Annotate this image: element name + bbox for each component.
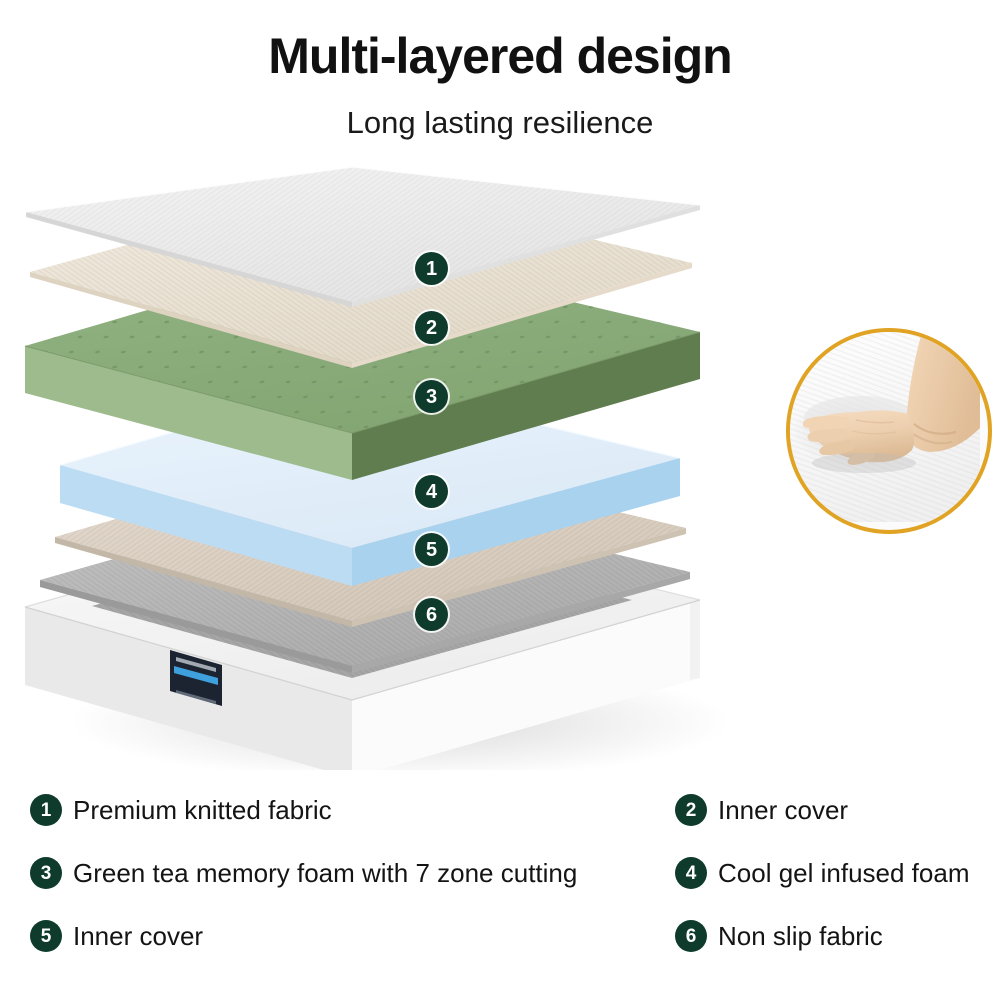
layer-legend: 1 Premium knitted fabric 3 Green tea mem… xyxy=(0,780,1000,970)
legend-item-4[interactable]: 4 Cool gel infused foam xyxy=(675,857,969,889)
legend-item-6[interactable]: 6 Non slip fabric xyxy=(675,920,883,952)
legend-label-5: Inner cover xyxy=(73,923,203,949)
legend-badge-6: 6 xyxy=(675,920,707,952)
legend-badge-3: 3 xyxy=(30,857,62,889)
legend-label-4: Cool gel infused foam xyxy=(718,860,969,886)
legend-badge-5: 5 xyxy=(30,920,62,952)
legend-label-1: Premium knitted fabric xyxy=(73,797,332,823)
exploded-layer-diagram: 1 2 3 4 5 6 xyxy=(0,150,790,770)
foam-press-inset-photo xyxy=(786,328,992,534)
diagram-callout-3[interactable]: 3 xyxy=(415,380,448,413)
infographic-canvas: Multi-layered design Long lasting resili… xyxy=(0,0,1000,1000)
diagram-callout-2[interactable]: 2 xyxy=(415,311,448,344)
legend-label-6: Non slip fabric xyxy=(718,923,883,949)
diagram-callout-6[interactable]: 6 xyxy=(415,598,448,631)
diagram-callout-1[interactable]: 1 xyxy=(415,252,448,285)
diagram-callout-4[interactable]: 4 xyxy=(415,475,448,508)
legend-item-3[interactable]: 3 Green tea memory foam with 7 zone cutt… xyxy=(30,857,577,889)
page-title: Multi-layered design xyxy=(0,30,1000,83)
diagram-callout-5[interactable]: 5 xyxy=(415,533,448,566)
legend-badge-2: 2 xyxy=(675,794,707,826)
legend-item-5[interactable]: 5 Inner cover xyxy=(30,920,203,952)
legend-label-2: Inner cover xyxy=(718,797,848,823)
legend-badge-1: 1 xyxy=(30,794,62,826)
page-subtitle: Long lasting resilience xyxy=(0,106,1000,140)
legend-item-1[interactable]: 1 Premium knitted fabric xyxy=(30,794,332,826)
legend-badge-4: 4 xyxy=(675,857,707,889)
legend-label-3: Green tea memory foam with 7 zone cuttin… xyxy=(73,860,577,886)
legend-item-2[interactable]: 2 Inner cover xyxy=(675,794,848,826)
